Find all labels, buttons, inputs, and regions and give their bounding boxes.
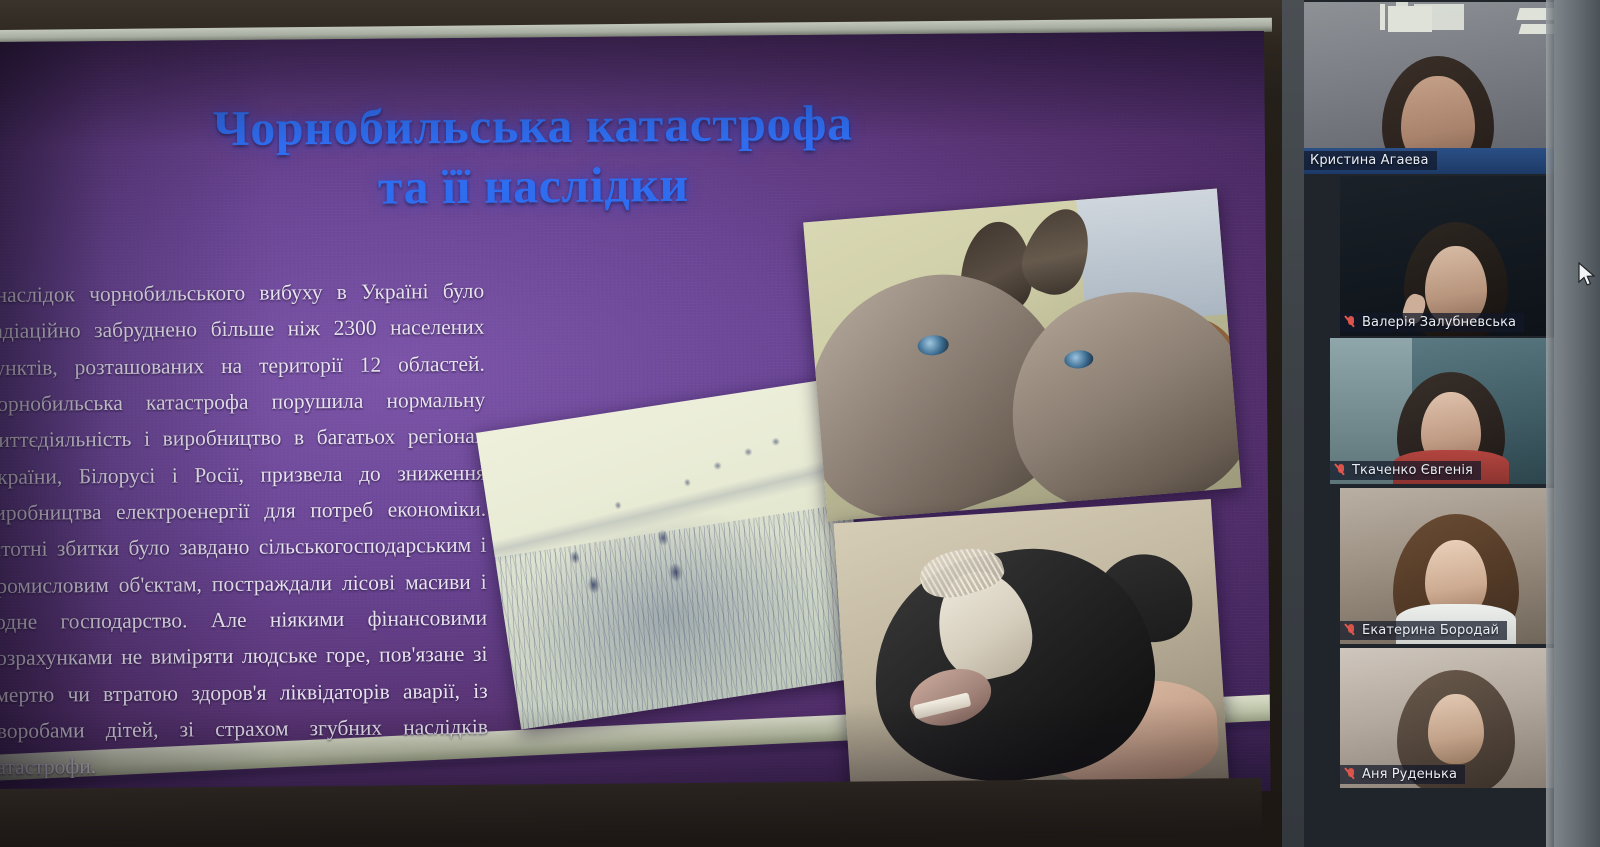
scrollbar-track[interactable] <box>1546 0 1554 847</box>
participant-tile[interactable]: Ткаченко Євгенія <box>1330 338 1572 484</box>
participant-name: Аня Руденька <box>1362 767 1457 782</box>
participant-name: Валерія Залубневська <box>1362 315 1516 330</box>
participant-video-feed <box>1340 176 1572 336</box>
liquidators-field-photo <box>476 379 877 730</box>
participant-tile[interactable]: Екатерина Бородай <box>1340 488 1572 644</box>
mic-muted-icon <box>1346 768 1357 782</box>
participant-name: Екатерина Бородай <box>1362 623 1499 638</box>
participant-nameplate: Аня Руденька <box>1340 765 1465 784</box>
deformed-calf-photo <box>834 499 1230 802</box>
participant-nameplate: Ткаченко Євгенія <box>1330 461 1481 480</box>
face <box>1428 694 1484 764</box>
participant-name: Кристина Агаева <box>1310 153 1429 168</box>
mic-muted-icon <box>1346 624 1357 638</box>
mic-muted-icon <box>1336 464 1347 478</box>
participant-tile[interactable]: Аня Руденька <box>1340 648 1572 788</box>
slide-body-text: Унаслідок чорнобильського вибуху в Украї… <box>0 273 496 786</box>
two-headed-calf-photo <box>803 189 1241 522</box>
participant-nameplate: Екатерина Бородай <box>1340 621 1507 640</box>
slide-title-line-1: Чорнобильська катастрофа <box>213 94 853 156</box>
field-figures <box>476 379 877 730</box>
participant-name: Ткаченко Євгенія <box>1352 463 1473 478</box>
participant-tile[interactable]: Валерія Залубневська <box>1340 176 1572 336</box>
participant-nameplate: Кристина Агаева <box>1304 151 1437 170</box>
screen-bottom-shadow <box>0 778 1262 847</box>
participant-nameplate: Валерія Залубневська <box>1340 313 1524 332</box>
projected-slide: Чорнобильська катастрофа та її наслідки … <box>0 31 1271 802</box>
slide-title: Чорнобильська катастрофа та її наслідки <box>113 92 954 219</box>
screenshot-root: Чорнобильська катастрофа та її наслідки … <box>0 0 1600 847</box>
mic-muted-icon <box>1346 316 1357 330</box>
right-side-panel <box>1554 0 1600 847</box>
window-control-left[interactable] <box>1388 6 1432 32</box>
slide-title-line-2: та її наслідки <box>113 152 953 219</box>
